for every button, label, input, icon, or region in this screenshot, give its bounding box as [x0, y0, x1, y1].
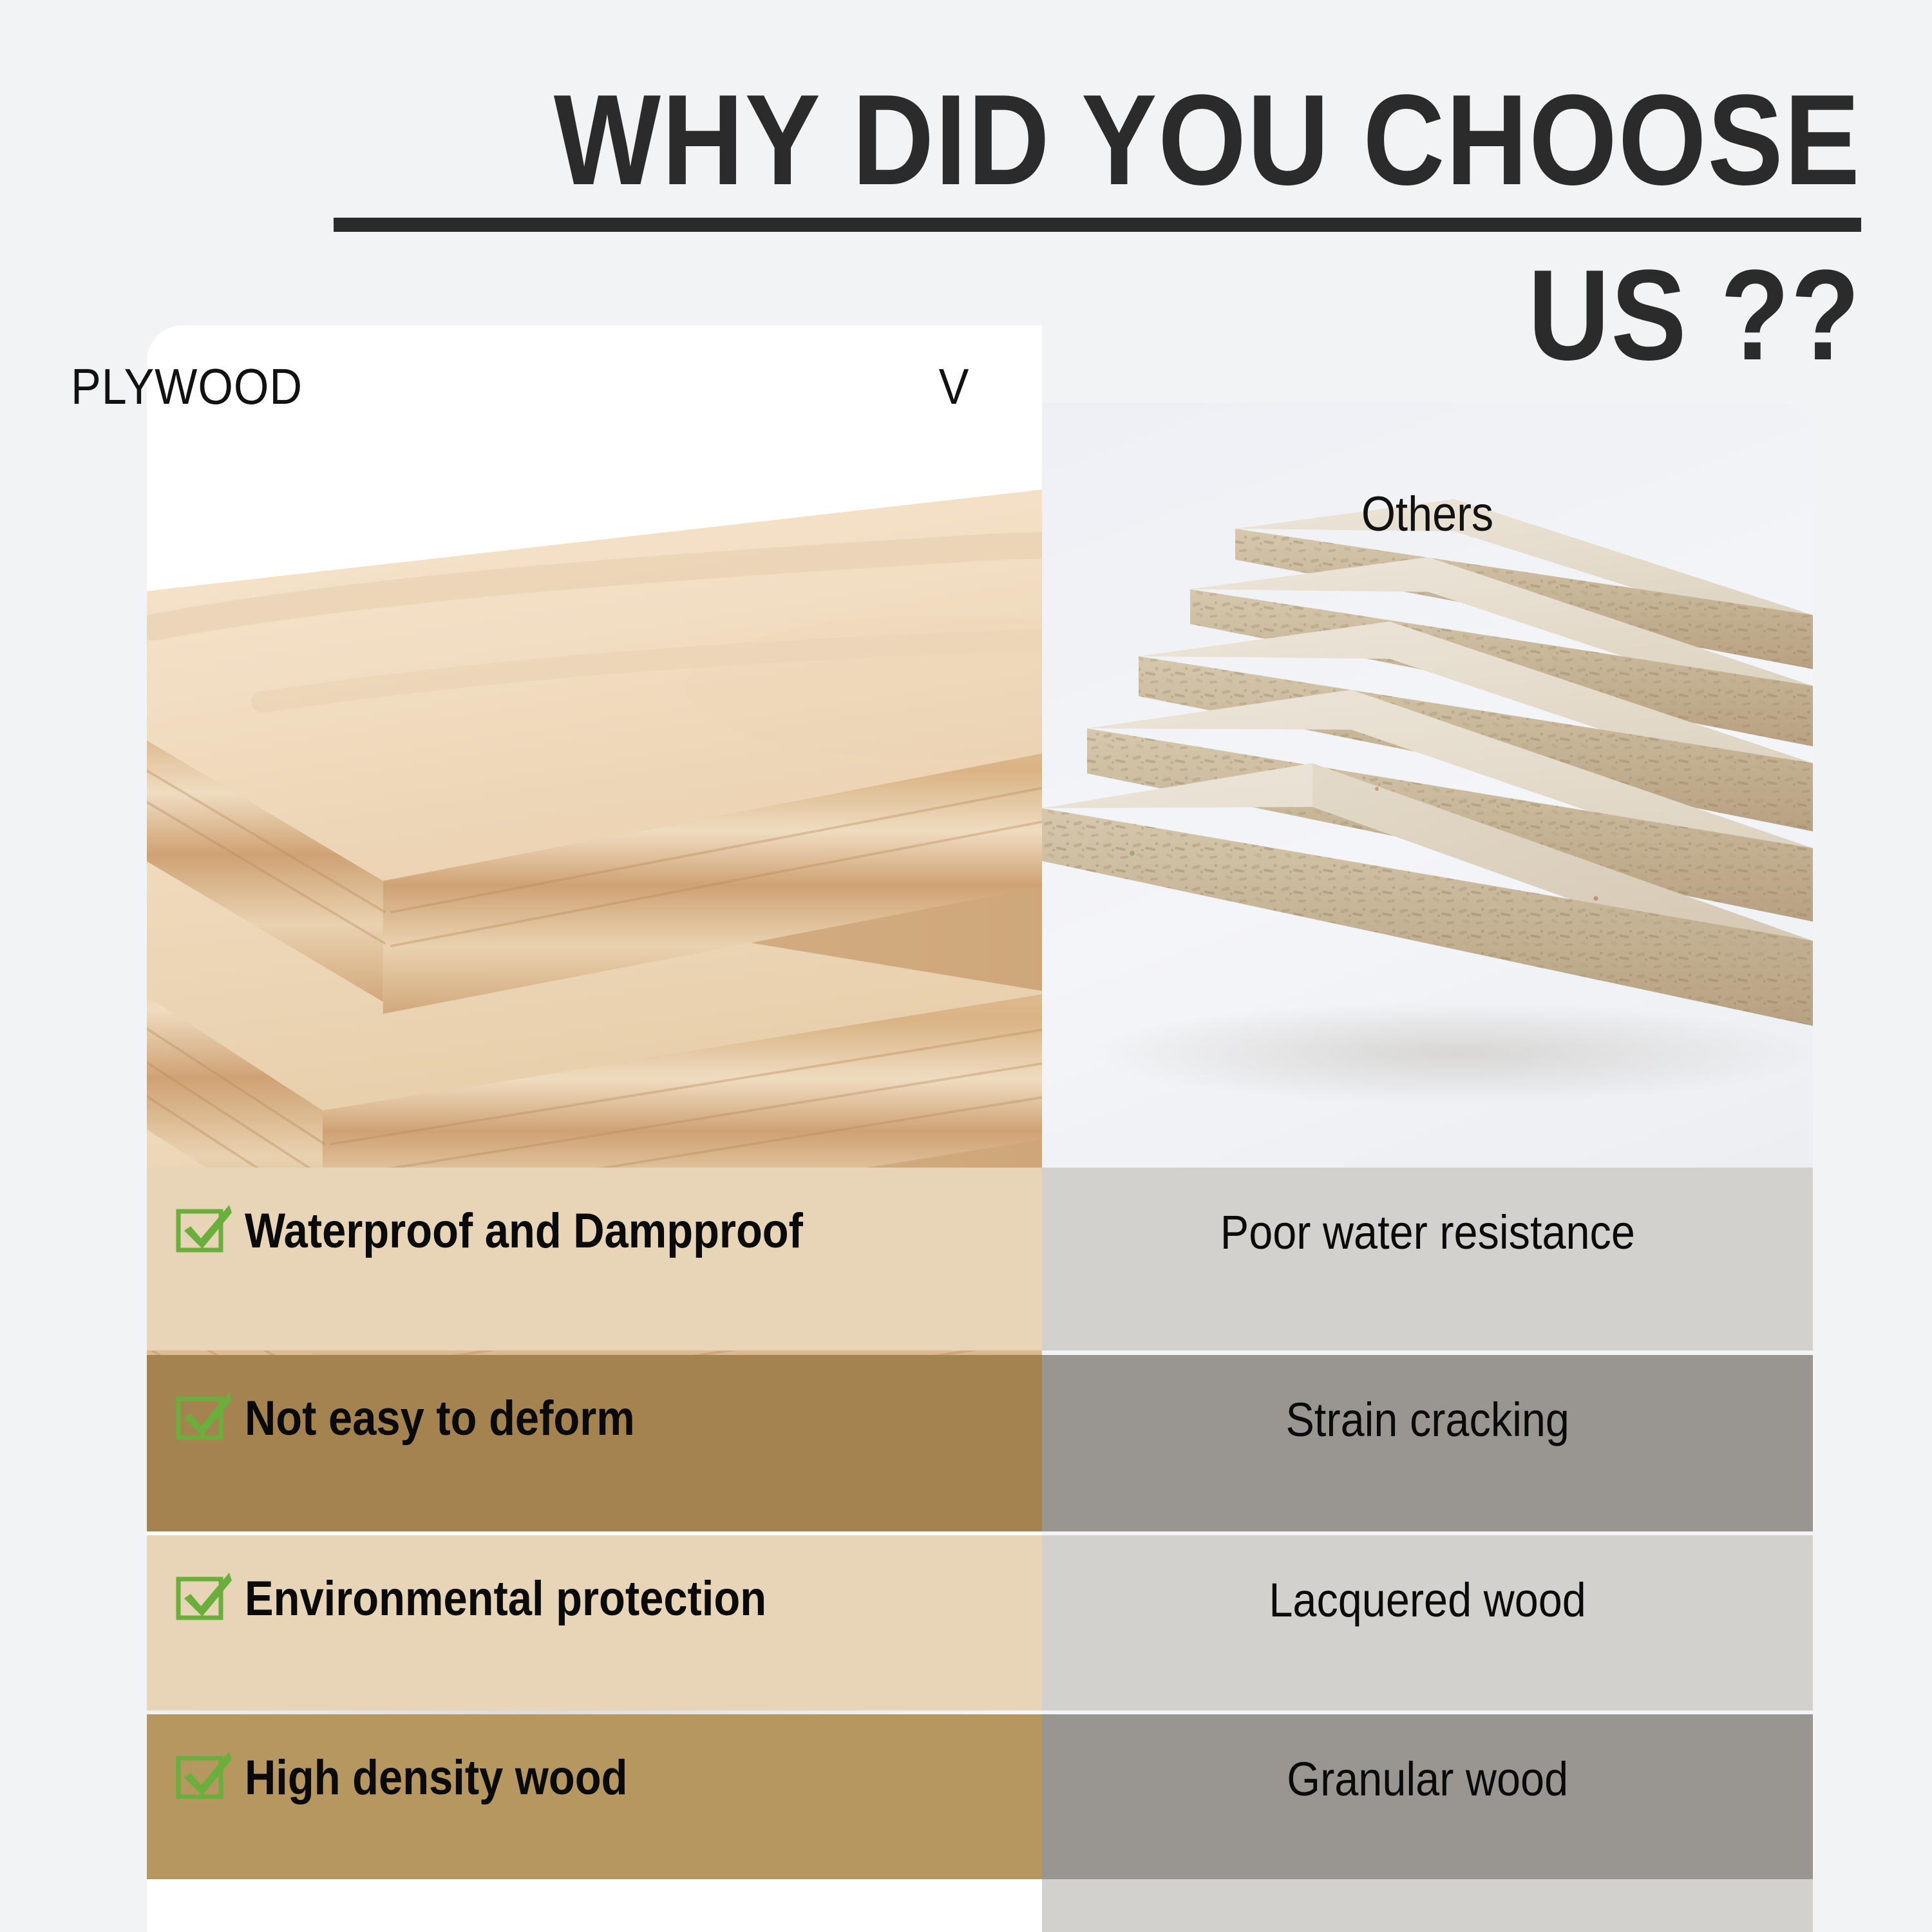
- feature-label-others: Granular wood: [1287, 1752, 1568, 1806]
- comparison-row-right: Poor water resistance: [1042, 1168, 1813, 1350]
- headline-line-1: WHY DID YOU CHOOSE: [554, 76, 1861, 205]
- headline-line-2: US ??: [1528, 251, 1861, 380]
- plywood-product-image: [147, 325, 1042, 1932]
- comparison-row-right: Granular wood: [1042, 1714, 1813, 1879]
- feature-label-others: Poor water resistance: [1220, 1205, 1634, 1260]
- others-panel-title: Others: [1081, 486, 1774, 542]
- plywood-card: [147, 325, 1042, 1932]
- comparison-row-right: Lacquered wood: [1042, 1535, 1813, 1710]
- feature-label-others: Lacquered wood: [1269, 1573, 1586, 1627]
- headline-underline-rule: [334, 218, 1861, 232]
- feature-label-others: Strain cracking: [1285, 1392, 1569, 1447]
- plywood-panel-title: PLYWOOD: [71, 357, 303, 416]
- comparison-row-right: [1042, 1879, 1813, 1932]
- plywood-panel-marker: V: [939, 357, 969, 416]
- comparison-row-right: Strain cracking: [1042, 1355, 1813, 1531]
